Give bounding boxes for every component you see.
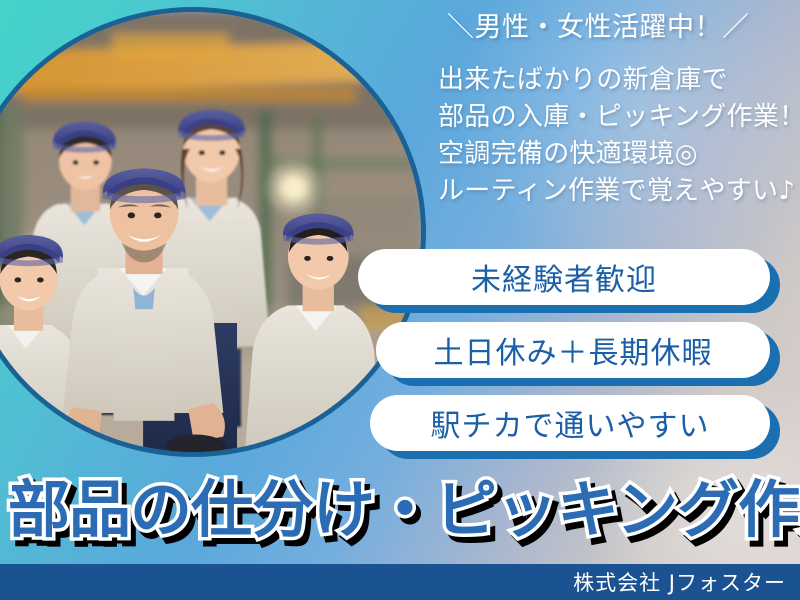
job-title-headline: 部品の仕分け・ピッキング作業 <box>8 479 798 541</box>
team-photo-circle <box>0 7 426 457</box>
feature-pill-weekends-off: 土日休み＋長期休暇 <box>376 322 770 378</box>
body-copy-line-1: 出来たばかりの新倉庫で <box>438 62 798 99</box>
body-copy-line-2: 部品の入庫・ピッキング作業！ <box>438 99 798 136</box>
catch-copy-top: ＼男性・女性活躍中！／ <box>447 14 792 41</box>
team-photo-illustration <box>0 12 421 452</box>
body-copy-line-4: ルーティン作業で覚えやすい♪ <box>438 173 798 210</box>
body-copy: 出来たばかりの新倉庫で 部品の入庫・ピッキング作業！ 空調完備の快適環境◎ ルー… <box>438 62 798 210</box>
company-name: 株式会社 Jフォスター <box>573 567 800 597</box>
body-copy-line-3: 空調完備の快適環境◎ <box>438 136 798 173</box>
feature-pill-near-station: 駅チカで通いやすい <box>370 395 770 451</box>
job-advert-banner: ＼男性・女性活躍中！／ 出来たばかりの新倉庫で 部品の入庫・ピッキング作業！ 空… <box>0 0 800 600</box>
bottom-bar: 株式会社 Jフォスター <box>0 564 800 600</box>
feature-pill-inexperienced-welcome: 未経験者歓迎 <box>358 249 770 305</box>
